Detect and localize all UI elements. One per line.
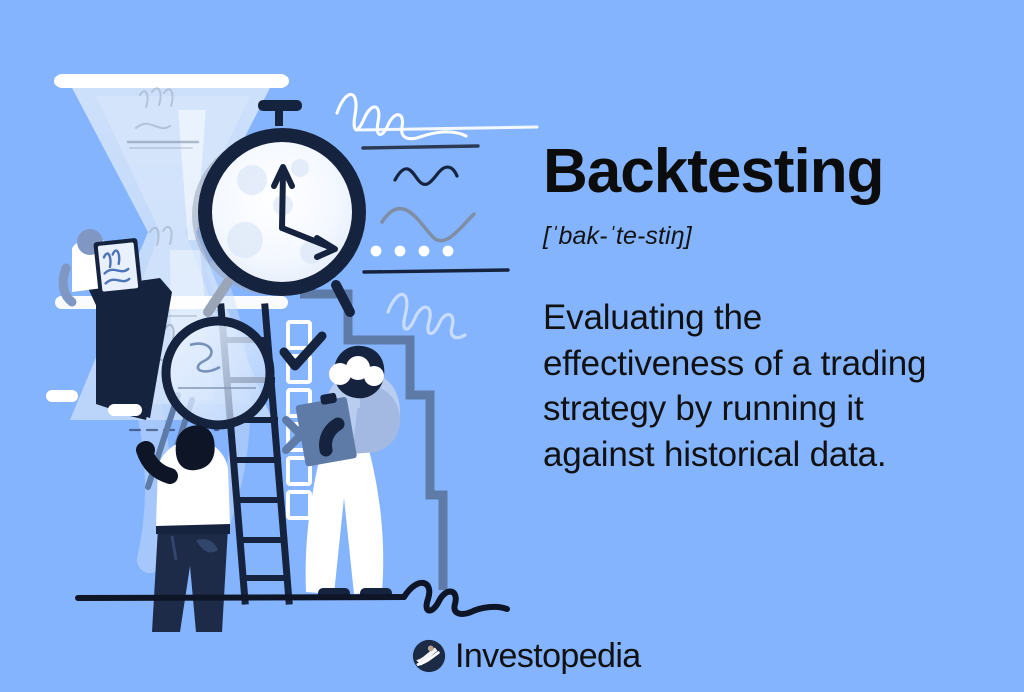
page-title: Backtesting (543, 140, 993, 204)
investopedia-logo: Investopedia (412, 639, 641, 673)
scribble-icon (337, 94, 537, 337)
pronunciation: [ˈbak-ˈte-stiŋ] (543, 222, 993, 251)
brand-name: Investopedia (455, 639, 641, 673)
investopedia-circle-i-icon (412, 639, 446, 673)
definition-text-block: Backtesting [ˈbak-ˈte-stiŋ] Evaluating t… (543, 140, 993, 477)
definition-card-image: Backtesting [ˈbak-ˈte-stiŋ] Evaluating t… (0, 0, 1024, 692)
definition-text: Evaluating the effectiveness of a tradin… (543, 295, 963, 477)
